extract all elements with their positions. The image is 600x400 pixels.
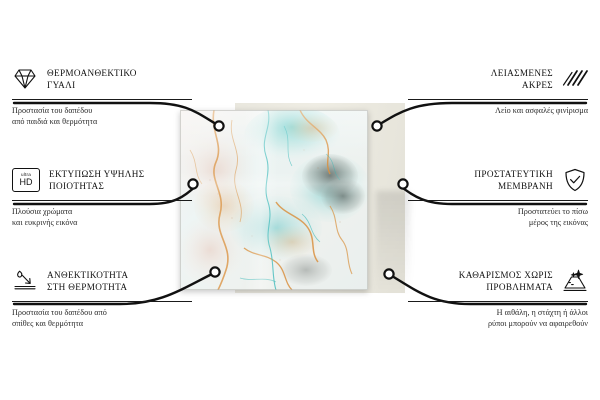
feature-divider <box>12 99 192 100</box>
feature-title-line2: ΓΥΑΛΙ <box>47 79 137 91</box>
feature-desc-line2: από παιδιά και θερμότητα <box>12 116 192 127</box>
feature-divider <box>408 200 588 201</box>
feature-divider <box>408 99 588 100</box>
feature-title-line1: ΚΑΘΑΡΙΣΜΟΣ ΧΩΡΙΣ <box>459 269 553 281</box>
feature-description: Η αιθάλη, η στάχτη ή άλλοι ρύποι μπορούν… <box>408 307 588 330</box>
feature-title: ΑΝΘΕΚΤΙΚΟΤΗΤΑ ΣΤΗ ΘΕΡΜΟΤΗΤΑ <box>47 269 128 294</box>
feature-heat-durability: ΑΝΘΕΚΤΙΚΟΤΗΤΑ ΣΤΗ ΘΕΡΜΟΤΗΤΑ Προστασία το… <box>12 266 192 330</box>
feature-desc-line2: και ευκρινής εικόνα <box>12 217 192 228</box>
feature-desc-line1: Λείο και ασφαλές φινίρισμα <box>408 105 588 116</box>
diamond-icon <box>12 66 38 92</box>
feature-divider <box>12 301 192 302</box>
feature-title-line2: ΠΡΟΒΛΗΜΑΤΑ <box>459 281 553 293</box>
feature-desc-line1: Πλούσια χρώματα <box>12 206 192 217</box>
feature-header: ΠΡΟΣΤΑΤΕΥΤΙΚΗ ΜΕΜΒΡΑΝΗ <box>408 165 588 195</box>
shield-check-icon <box>562 167 588 193</box>
feature-title: ΛΕΙΑΣΜΕΝΕΣ ΑΚΡΕΣ <box>491 67 553 92</box>
infographic-canvas: ΘΕΡΜΟΑΝΘΕΚΤΙΚΟ ΓΥΑΛΙ Προστασία του δαπέδ… <box>0 0 600 400</box>
easy-cleaning-sparkle-icon <box>562 268 588 294</box>
feature-title-line1: ΘΕΡΜΟΑΝΘΕΚΤΙΚΟ <box>47 67 137 79</box>
feature-desc-line1: Προστασία του δαπέδου από <box>12 307 192 318</box>
feature-title-line1: ΛΕΙΑΣΜΕΝΕΣ <box>491 67 553 79</box>
product-shadow <box>376 191 410 295</box>
feature-title-line1: ΕΚΤΥΠΩΣΗ ΥΨΗΛΗΣ <box>49 168 144 180</box>
feature-header: ΚΑΘΑΡΙΣΜΟΣ ΧΩΡΙΣ ΠΡΟΒΛΗΜΑΤΑ <box>408 266 588 296</box>
polished-edges-icon <box>562 66 588 92</box>
product-image <box>180 105 410 297</box>
feature-desc-line2: σπίθες και θερμότητα <box>12 318 192 329</box>
feature-high-quality-print: ultra HD ΕΚΤΥΠΩΣΗ ΥΨΗΛΗΣ ΠΟΙΟΤΗΤΑΣ Πλούσ… <box>12 165 192 229</box>
ultra-hd-badge-large-text: HD <box>20 178 33 187</box>
flame-heat-resistance-icon <box>12 268 38 294</box>
feature-title-line2: ΜΕΜΒΡΑΝΗ <box>474 180 553 192</box>
feature-title-line2: ΣΤΗ ΘΕΡΜΟΤΗΤΑ <box>47 281 128 293</box>
feature-header: ΛΕΙΑΣΜΕΝΕΣ ΑΚΡΕΣ <box>408 64 588 94</box>
feature-description: Λείο και ασφαλές φινίρισμα <box>408 105 588 116</box>
feature-heat-resistant-glass: ΘΕΡΜΟΑΝΘΕΚΤΙΚΟ ΓΥΑΛΙ Προστασία του δαπέδ… <box>12 64 192 128</box>
feature-title-line1: ΠΡΟΣΤΑΤΕΥΤΙΚΗ <box>474 168 553 180</box>
feature-divider <box>12 200 192 201</box>
feature-desc-line1: Προστατεύει το πίσω <box>408 206 588 217</box>
glass-panel <box>180 110 368 290</box>
feature-title: ΕΚΤΥΠΩΣΗ ΥΨΗΛΗΣ ΠΟΙΟΤΗΤΑΣ <box>49 168 144 193</box>
feature-title: ΚΑΘΑΡΙΣΜΟΣ ΧΩΡΙΣ ΠΡΟΒΛΗΜΑΤΑ <box>459 269 553 294</box>
feature-divider <box>408 301 588 302</box>
feature-desc-line1: Προστασία του δαπέδου <box>12 105 192 116</box>
ultra-hd-badge-icon: ultra HD <box>12 168 40 192</box>
feature-header: ultra HD ΕΚΤΥΠΩΣΗ ΥΨΗΛΗΣ ΠΟΙΟΤΗΤΑΣ <box>12 165 192 195</box>
feature-description: Προστασία του δαπέδου από παιδιά και θερ… <box>12 105 192 128</box>
marble-artwork <box>180 110 368 290</box>
feature-desc-line1: Η αιθάλη, η στάχτη ή άλλοι <box>408 307 588 318</box>
feature-description: Προστατεύει το πίσω μέρος της εικόνας <box>408 206 588 229</box>
feature-title-line1: ΑΝΘΕΚΤΙΚΟΤΗΤΑ <box>47 269 128 281</box>
feature-description: Πλούσια χρώματα και ευκρινής εικόνα <box>12 206 192 229</box>
feature-desc-line2: μέρος της εικόνας <box>408 217 588 228</box>
feature-protective-membrane: ΠΡΟΣΤΑΤΕΥΤΙΚΗ ΜΕΜΒΡΑΝΗ Προστατεύει το πί… <box>408 165 588 229</box>
feature-header: ΑΝΘΕΚΤΙΚΟΤΗΤΑ ΣΤΗ ΘΕΡΜΟΤΗΤΑ <box>12 266 192 296</box>
feature-title: ΠΡΟΣΤΑΤΕΥΤΙΚΗ ΜΕΜΒΡΑΝΗ <box>474 168 553 193</box>
feature-description: Προστασία του δαπέδου από σπίθες και θερ… <box>12 307 192 330</box>
feature-polished-edges: ΛΕΙΑΣΜΕΝΕΣ ΑΚΡΕΣ Λείο και ασφαλές φινίρι… <box>408 64 588 116</box>
feature-title: ΘΕΡΜΟΑΝΘΕΚΤΙΚΟ ΓΥΑΛΙ <box>47 67 137 92</box>
feature-title-line2: ΑΚΡΕΣ <box>491 79 553 91</box>
feature-header: ΘΕΡΜΟΑΝΘΕΚΤΙΚΟ ΓΥΑΛΙ <box>12 64 192 94</box>
feature-title-line2: ΠΟΙΟΤΗΤΑΣ <box>49 180 144 192</box>
feature-desc-line2: ρύποι μπορούν να αφαιρεθούν <box>408 318 588 329</box>
feature-easy-cleaning: ΚΑΘΑΡΙΣΜΟΣ ΧΩΡΙΣ ΠΡΟΒΛΗΜΑΤΑ Η αιθάλη, η … <box>408 266 588 330</box>
